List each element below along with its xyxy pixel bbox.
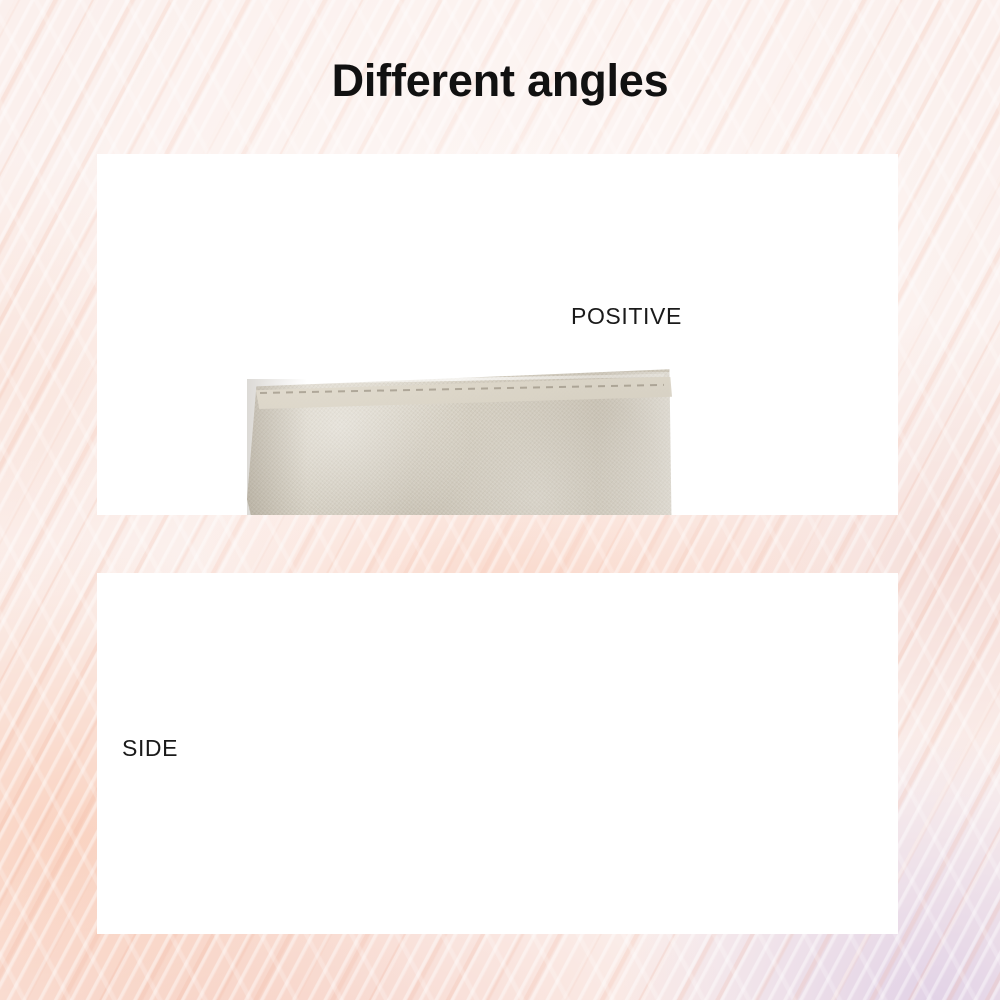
view-label-positive: POSITIVE: [571, 303, 682, 330]
product-image-clutch-front: [247, 366, 672, 515]
page-title: Different angles: [0, 55, 1000, 107]
product-panel-side: [97, 573, 898, 934]
product-image-canvas: Different angles POSITIVE S: [0, 0, 1000, 1000]
product-panel-positive: [97, 154, 898, 515]
view-label-side: SIDE: [122, 735, 178, 762]
